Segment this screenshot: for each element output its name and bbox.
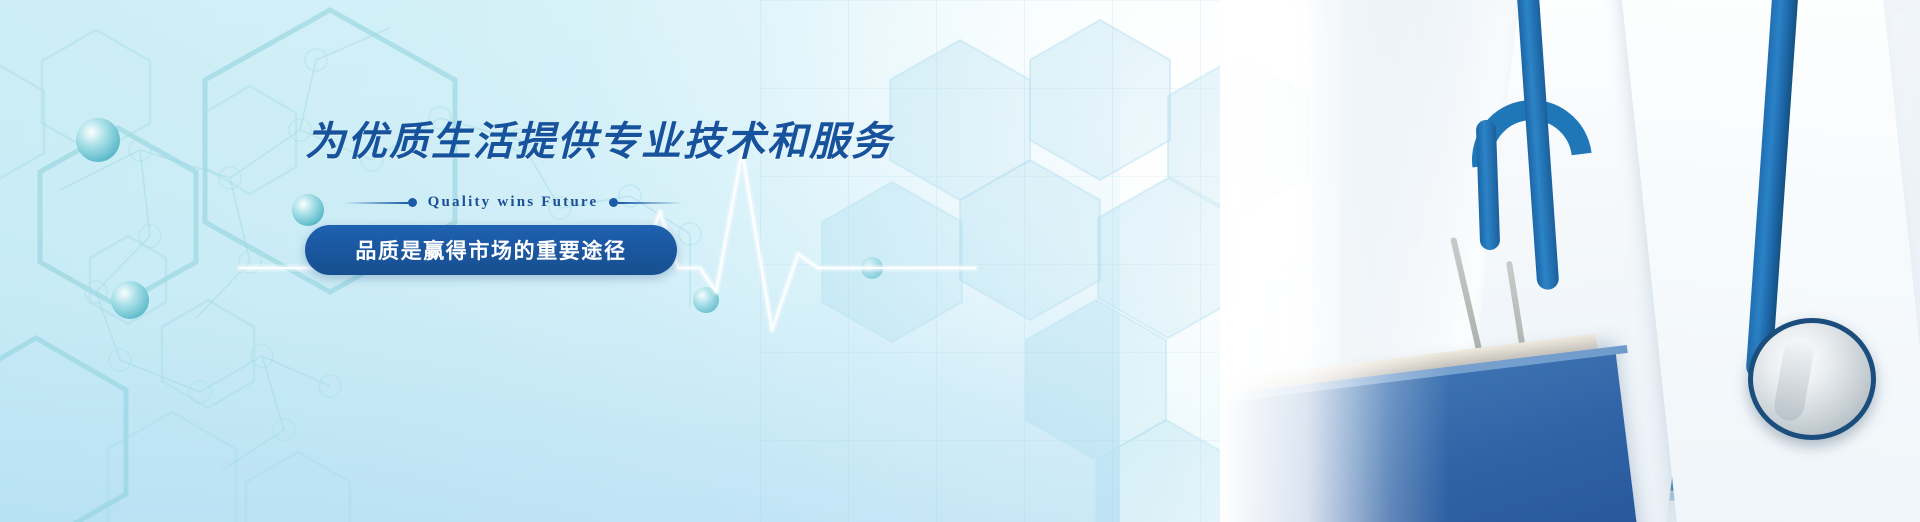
banner-content: 为优质生活提供专业技术和服务 Quality wins Future 品质是赢得…: [305, 122, 925, 275]
tagline-rule-left: [343, 202, 408, 204]
tagline-english: Quality wins Future: [417, 194, 610, 211]
tagline-rule-right: [618, 202, 683, 204]
slogan-pill-button[interactable]: 品质是赢得市场的重要途径: [305, 225, 677, 275]
doctor-photo: [1220, 0, 1920, 522]
tagline-dot-right: [609, 198, 618, 207]
photo-left-fade: [1220, 0, 1450, 522]
hero-banner: 为优质生活提供专业技术和服务 Quality wins Future 品质是赢得…: [0, 0, 1920, 522]
stethoscope-chestpiece: [1748, 318, 1876, 440]
banner-headline: 为优质生活提供专业技术和服务: [305, 122, 925, 162]
slogan-pill-label: 品质是赢得市场的重要途径: [355, 235, 626, 265]
tagline-row: Quality wins Future: [343, 194, 683, 211]
tagline-dot-left: [408, 198, 417, 207]
